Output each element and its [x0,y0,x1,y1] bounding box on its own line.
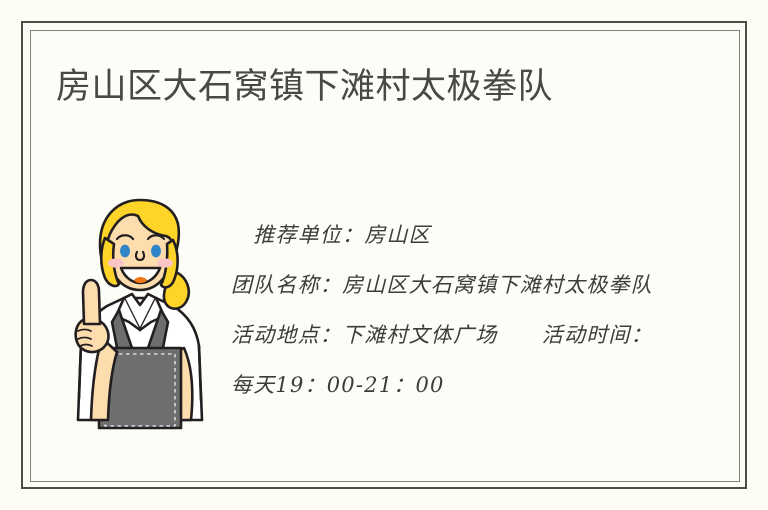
activity-details-text: 推荐单位：房山区 团队名称：房山区大石窝镇下滩村太极拳队 活动地点：下滩村文体广… [231,210,671,410]
content-area: 推荐单位：房山区 团队名称：房山区大石窝镇下滩村太极拳队 活动地点：下滩村文体广… [30,160,740,460]
page-title: 房山区大石窝镇下滩村太极拳队 [56,64,553,110]
cartoon-woman-pointing-up-illustration [72,198,208,436]
page-root: 房山区大石窝镇下滩村太极拳队 [0,0,768,510]
